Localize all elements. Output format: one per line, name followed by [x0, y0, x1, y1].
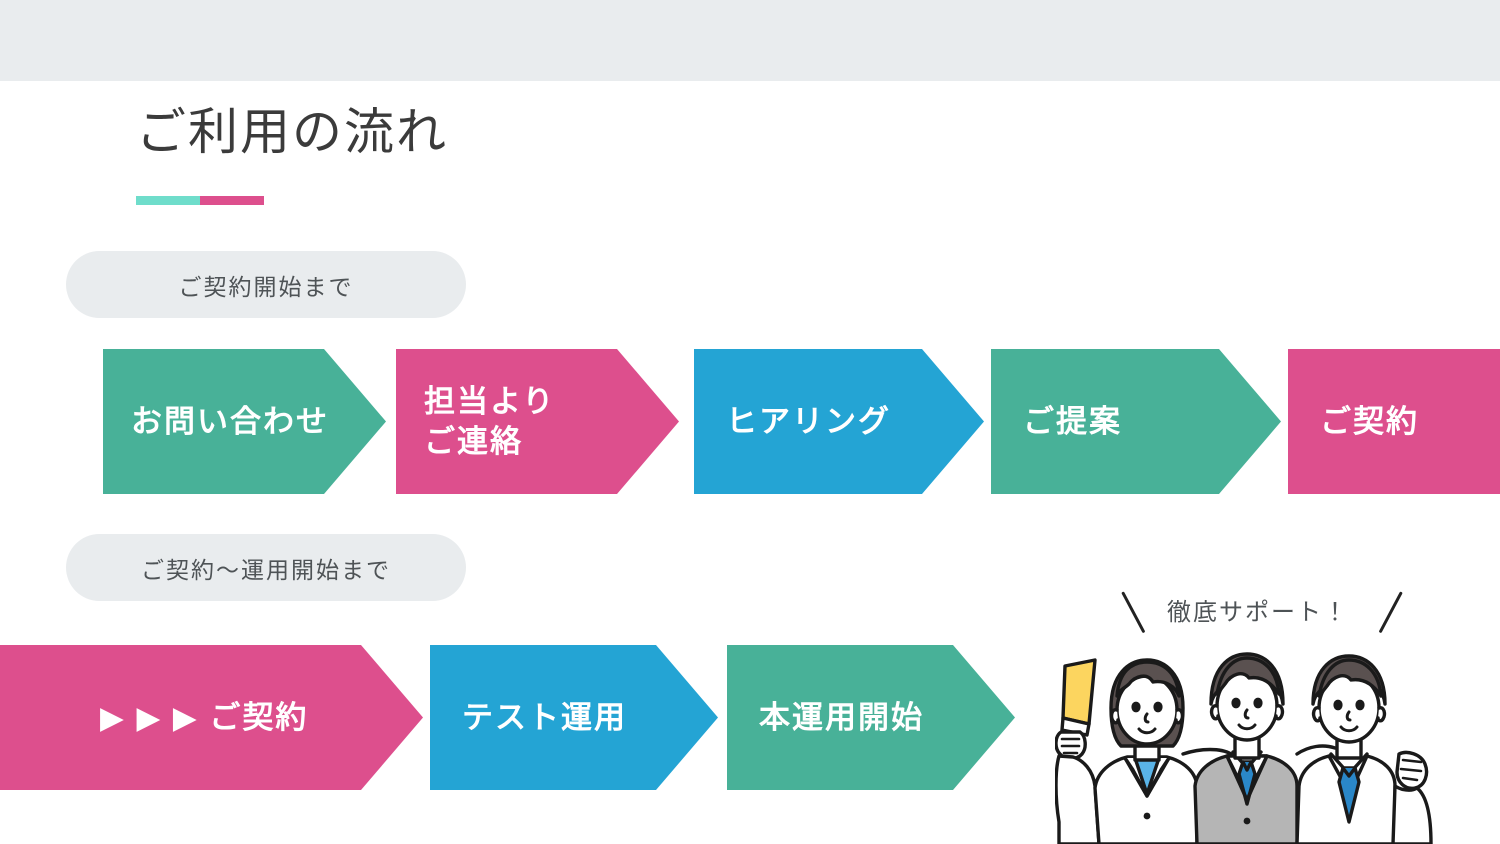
- flow-step-contact-from-rep[interactable]: 担当より ご連絡: [396, 349, 679, 494]
- flow-step-hearing[interactable]: ヒアリング: [694, 349, 984, 494]
- three-business-people-illustration: [1055, 636, 1445, 844]
- flow-step-inquiry[interactable]: お問い合わせ: [103, 349, 386, 494]
- section-pill-contract-start: ご契約開始まで: [66, 251, 466, 318]
- flow-step-label: 担当より ご連絡: [424, 382, 555, 461]
- support-note: 徹底サポート！: [1108, 592, 1408, 627]
- title-rule-segment-right: [200, 196, 264, 205]
- flow-step-label: テスト運用: [462, 698, 627, 738]
- top-band: [0, 0, 1500, 81]
- section-pill-label: ご契約〜運用開始まで: [141, 551, 391, 585]
- flow-step-label: ご提案: [1023, 402, 1122, 442]
- flow-step-proposal[interactable]: ご提案: [991, 349, 1281, 494]
- flow-step-label: お問い合わせ: [131, 402, 329, 442]
- flow-step-label: ご契約: [1320, 402, 1419, 442]
- flow-step-contract-continued[interactable]: ▶ ▶ ▶ ご契約: [0, 645, 423, 790]
- section-pill-contract-to-operation: ご契約〜運用開始まで: [66, 534, 466, 601]
- flow-step-test-operation[interactable]: テスト運用: [430, 645, 718, 790]
- flow-step-full-operation[interactable]: 本運用開始: [727, 645, 1015, 790]
- flow-step-label: ▶ ▶ ▶ ご契約: [100, 698, 308, 738]
- page-title: ご利用の流れ: [136, 104, 448, 162]
- title-underline-rule: [136, 196, 264, 205]
- flow-step-contract[interactable]: ご契約: [1288, 349, 1500, 494]
- flow-step-label: 本運用開始: [759, 698, 924, 738]
- slide-canvas: ご利用の流れ ご契約開始まで お問い合わせ 担当より ご連絡 ヒアリング ご提案…: [0, 0, 1500, 844]
- title-rule-segment-left: [136, 196, 200, 205]
- section-pill-label: ご契約開始まで: [179, 268, 354, 302]
- flow-step-label: ヒアリング: [726, 402, 891, 442]
